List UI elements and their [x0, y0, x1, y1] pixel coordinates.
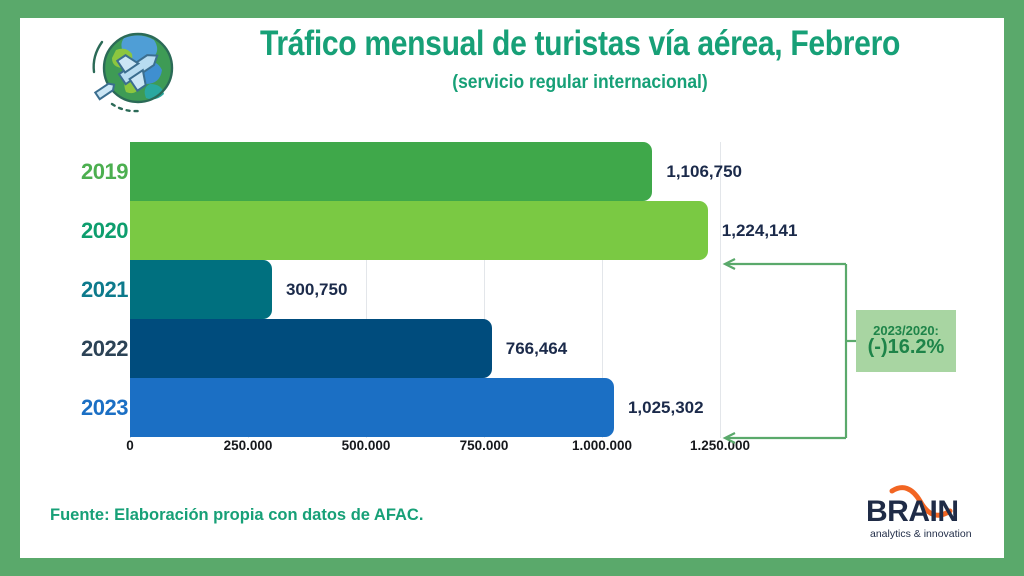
bar-2020[interactable] — [130, 201, 708, 260]
category-label-2020: 2020 — [58, 201, 128, 260]
x-tick-label: 1.000.000 — [572, 438, 632, 453]
header: Tráfico mensual de turistas vía aérea, F… — [20, 18, 1004, 128]
bar-row: 20231,025,302 — [20, 378, 1004, 437]
category-label-2019: 2019 — [58, 142, 128, 201]
page-title: Tráfico mensual de turistas vía aérea, F… — [227, 24, 932, 63]
bar-2021[interactable] — [130, 260, 272, 319]
source-note: Fuente: Elaboración propia con datos de … — [50, 506, 423, 525]
annotation-box: 2023/2020: (-)16.2% — [856, 310, 956, 372]
chart-plot-area: 20191,106,75020201,224,1412021300,750202… — [20, 142, 1004, 472]
category-label-2021: 2021 — [58, 260, 128, 319]
slide-canvas: Tráfico mensual de turistas vía aérea, F… — [20, 18, 1004, 558]
bar-value-2022: 766,464 — [506, 319, 567, 378]
annotation-ratio-label: 2023/2020: — [873, 324, 939, 338]
title-block: Tráfico mensual de turistas vía aérea, F… — [170, 24, 990, 94]
bar-value-2020: 1,224,141 — [722, 201, 798, 260]
annotation-value: (-)16.2% — [868, 337, 945, 358]
svg-text:analytics & innovation: analytics & innovation — [870, 528, 972, 540]
bar-2019[interactable] — [130, 142, 652, 201]
category-label-2022: 2022 — [58, 319, 128, 378]
x-tick-label: 250.000 — [224, 438, 273, 453]
x-tick-label: 0 — [126, 438, 134, 453]
category-label-2023: 2023 — [58, 378, 128, 437]
bar-row: 20201,224,141 — [20, 201, 1004, 260]
page-subtitle: (servicio regular internacional) — [203, 72, 957, 94]
x-tick-label: 500.000 — [342, 438, 391, 453]
green-frame-border: Tráfico mensual de turistas vía aérea, F… — [0, 0, 1024, 576]
bar-2022[interactable] — [130, 319, 492, 378]
x-axis: 0250.000500.000750.0001.000.0001.250.000 — [20, 438, 1004, 464]
x-tick-label: 750.000 — [460, 438, 509, 453]
bar-value-2019: 1,106,750 — [666, 142, 742, 201]
x-tick-label: 1.250.000 — [690, 438, 750, 453]
bar-row: 20191,106,750 — [20, 142, 1004, 201]
bar-2023[interactable] — [130, 378, 614, 437]
bar-value-2023: 1,025,302 — [628, 378, 704, 437]
svg-text:BRAIN: BRAIN — [866, 495, 959, 528]
brain-logo: BRAIN analytics & innovation — [858, 483, 988, 545]
bar-value-2021: 300,750 — [286, 260, 347, 319]
